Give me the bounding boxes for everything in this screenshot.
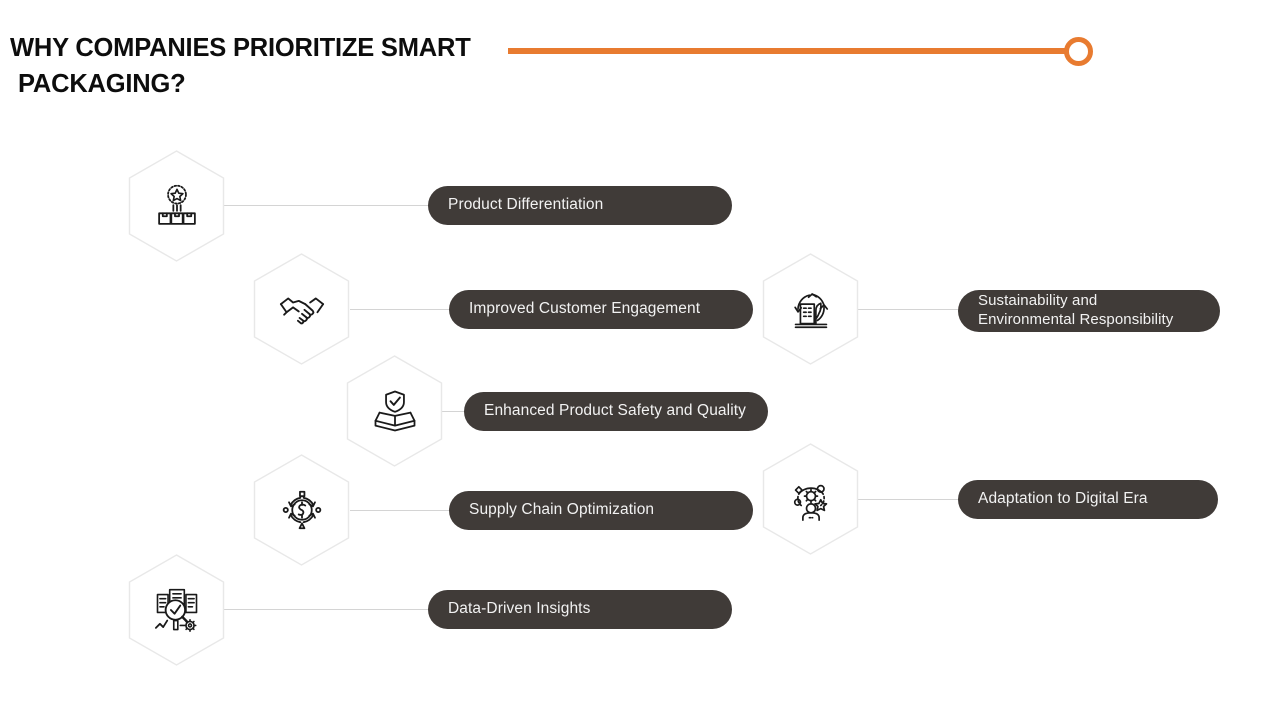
handshake-icon: [253, 253, 350, 365]
building-recycle-leaf-icon: [762, 253, 859, 365]
hexagon-supply-chain-optimization: [253, 454, 350, 566]
pill-label: Supply Chain Optimization: [469, 501, 654, 520]
dollar-circular-arrows-icon: [253, 454, 350, 566]
page-title: WHY COMPANIES PRIORITIZE SMART PACKAGING…: [10, 30, 530, 102]
connector-data-driven-insights: [224, 609, 444, 610]
documents-magnifier-check-icon: [128, 554, 225, 666]
hexagon-improved-customer-engagement: [253, 253, 350, 365]
pill-data-driven-insights[interactable]: Data-Driven Insights: [428, 590, 732, 629]
pill-sustainability[interactable]: Sustainability and Environmental Respons…: [958, 290, 1220, 332]
accent-rule: [508, 48, 1074, 54]
pill-product-differentiation[interactable]: Product Differentiation: [428, 186, 732, 225]
pill-label: Enhanced Product Safety and Quality: [484, 402, 746, 421]
page-title-line-2: PACKAGING?: [10, 66, 530, 102]
connector-product-differentiation: [224, 205, 444, 206]
open-box-shield-check-icon: [346, 355, 443, 467]
pill-label: Sustainability and Environmental Respons…: [978, 292, 1173, 330]
slide-canvas: WHY COMPANIES PRIORITIZE SMART PACKAGING…: [0, 0, 1280, 720]
pill-adaptation-digital-era[interactable]: Adaptation to Digital Era: [958, 480, 1218, 519]
pill-enhanced-product-safety[interactable]: Enhanced Product Safety and Quality: [464, 392, 768, 431]
hexagon-data-driven-insights: [128, 554, 225, 666]
person-gear-network-icon: [762, 443, 859, 555]
pill-label: Adaptation to Digital Era: [978, 490, 1148, 509]
pill-label: Data-Driven Insights: [448, 600, 590, 619]
hexagon-adaptation-digital-era: [762, 443, 859, 555]
boxes-with-star-badge-icon: [128, 150, 225, 262]
pill-improved-customer-engagement[interactable]: Improved Customer Engagement: [449, 290, 753, 329]
hexagon-sustainability: [762, 253, 859, 365]
hexagon-enhanced-product-safety: [346, 355, 443, 467]
pill-label: Product Differentiation: [448, 196, 603, 215]
pill-supply-chain-optimization[interactable]: Supply Chain Optimization: [449, 491, 753, 530]
hexagon-product-differentiation: [128, 150, 225, 262]
accent-rule-endpoint-circle: [1064, 37, 1093, 66]
page-title-line-1: WHY COMPANIES PRIORITIZE SMART: [10, 34, 471, 62]
pill-label: Improved Customer Engagement: [469, 300, 700, 319]
